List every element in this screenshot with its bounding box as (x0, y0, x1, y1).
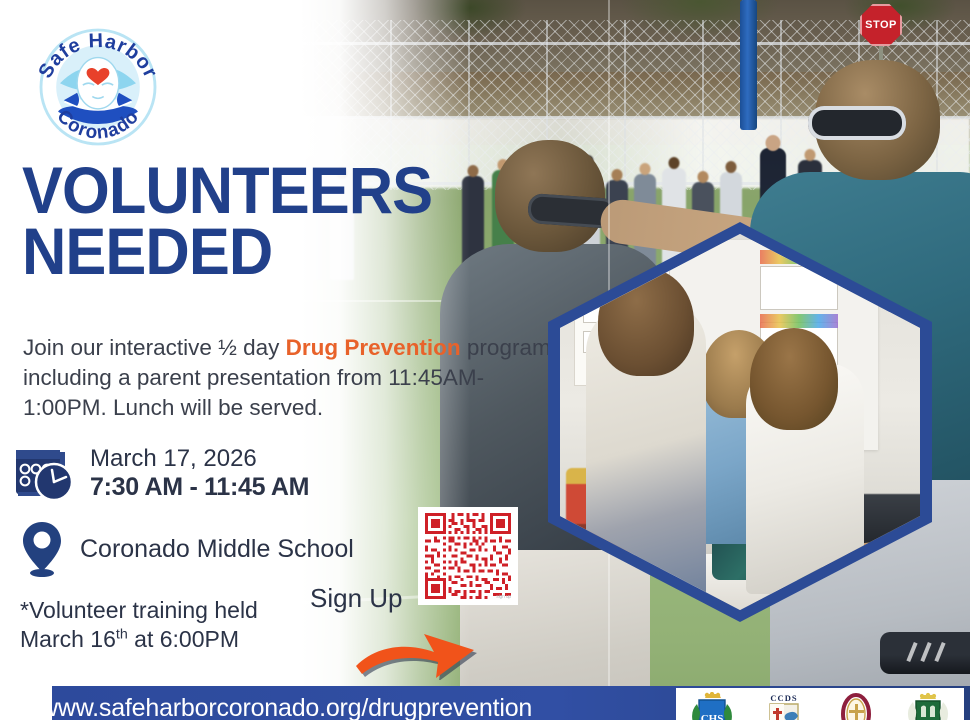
impairment-goggles-icon (808, 106, 906, 140)
qr-watermark: sign up (496, 594, 511, 600)
location-block: Coronado Middle School (20, 520, 354, 578)
event-time: 7:30 AM - 11:45 AM (90, 473, 309, 503)
crest-sacred-heart (829, 692, 883, 720)
training-note-line-2: March 16th at 6:00PM (20, 625, 258, 654)
partner-logos: CHS CCDS (676, 688, 964, 720)
venue-name: Coronado Middle School (80, 535, 354, 564)
training-note-line-1: *Volunteer training held (20, 596, 258, 625)
map-pin-icon (20, 520, 64, 578)
classroom-training-photo (548, 222, 932, 622)
calendar-clock-icon (14, 446, 76, 502)
svg-text:CHS: CHS (701, 713, 724, 720)
crest-ccds: CCDS (757, 692, 811, 720)
date-time-block: March 17, 2026 7:30 AM - 11:45 AM (14, 445, 309, 503)
stop-sign-text: STOP (865, 19, 897, 31)
padded-post (740, 0, 757, 130)
website-url[interactable]: www.safeharborcoronado.org/drugpreventio… (40, 694, 532, 720)
crest-village-academy (901, 692, 955, 720)
crest-cuhs: CHS (685, 692, 739, 720)
volunteer-poster: STOP (0, 0, 970, 720)
svg-text:CCDS: CCDS (770, 693, 797, 703)
headline-line-2: NEEDED (22, 221, 413, 282)
description-highlight: Drug Prevention (286, 335, 461, 360)
training-note: *Volunteer training held March 16th at 6… (20, 596, 258, 654)
ordinal-suffix: th (116, 626, 128, 642)
description-part-1: Join our interactive ½ day (23, 335, 286, 360)
page-title: VOLUNTEERS NEEDED (22, 160, 413, 283)
headline-line-1: VOLUNTEERS (22, 160, 413, 221)
curved-arrow-icon (352, 600, 480, 680)
event-date: March 17, 2026 (90, 445, 309, 473)
training-time: at 6:00PM (128, 626, 239, 652)
qr-code-icon[interactable]: sign up (418, 507, 518, 605)
program-description: Join our interactive ½ day Drug Preventi… (23, 333, 563, 423)
safe-harbor-coronado-logo: Safe Harbor Coronado (22, 24, 174, 150)
training-date: March 16 (20, 626, 116, 652)
